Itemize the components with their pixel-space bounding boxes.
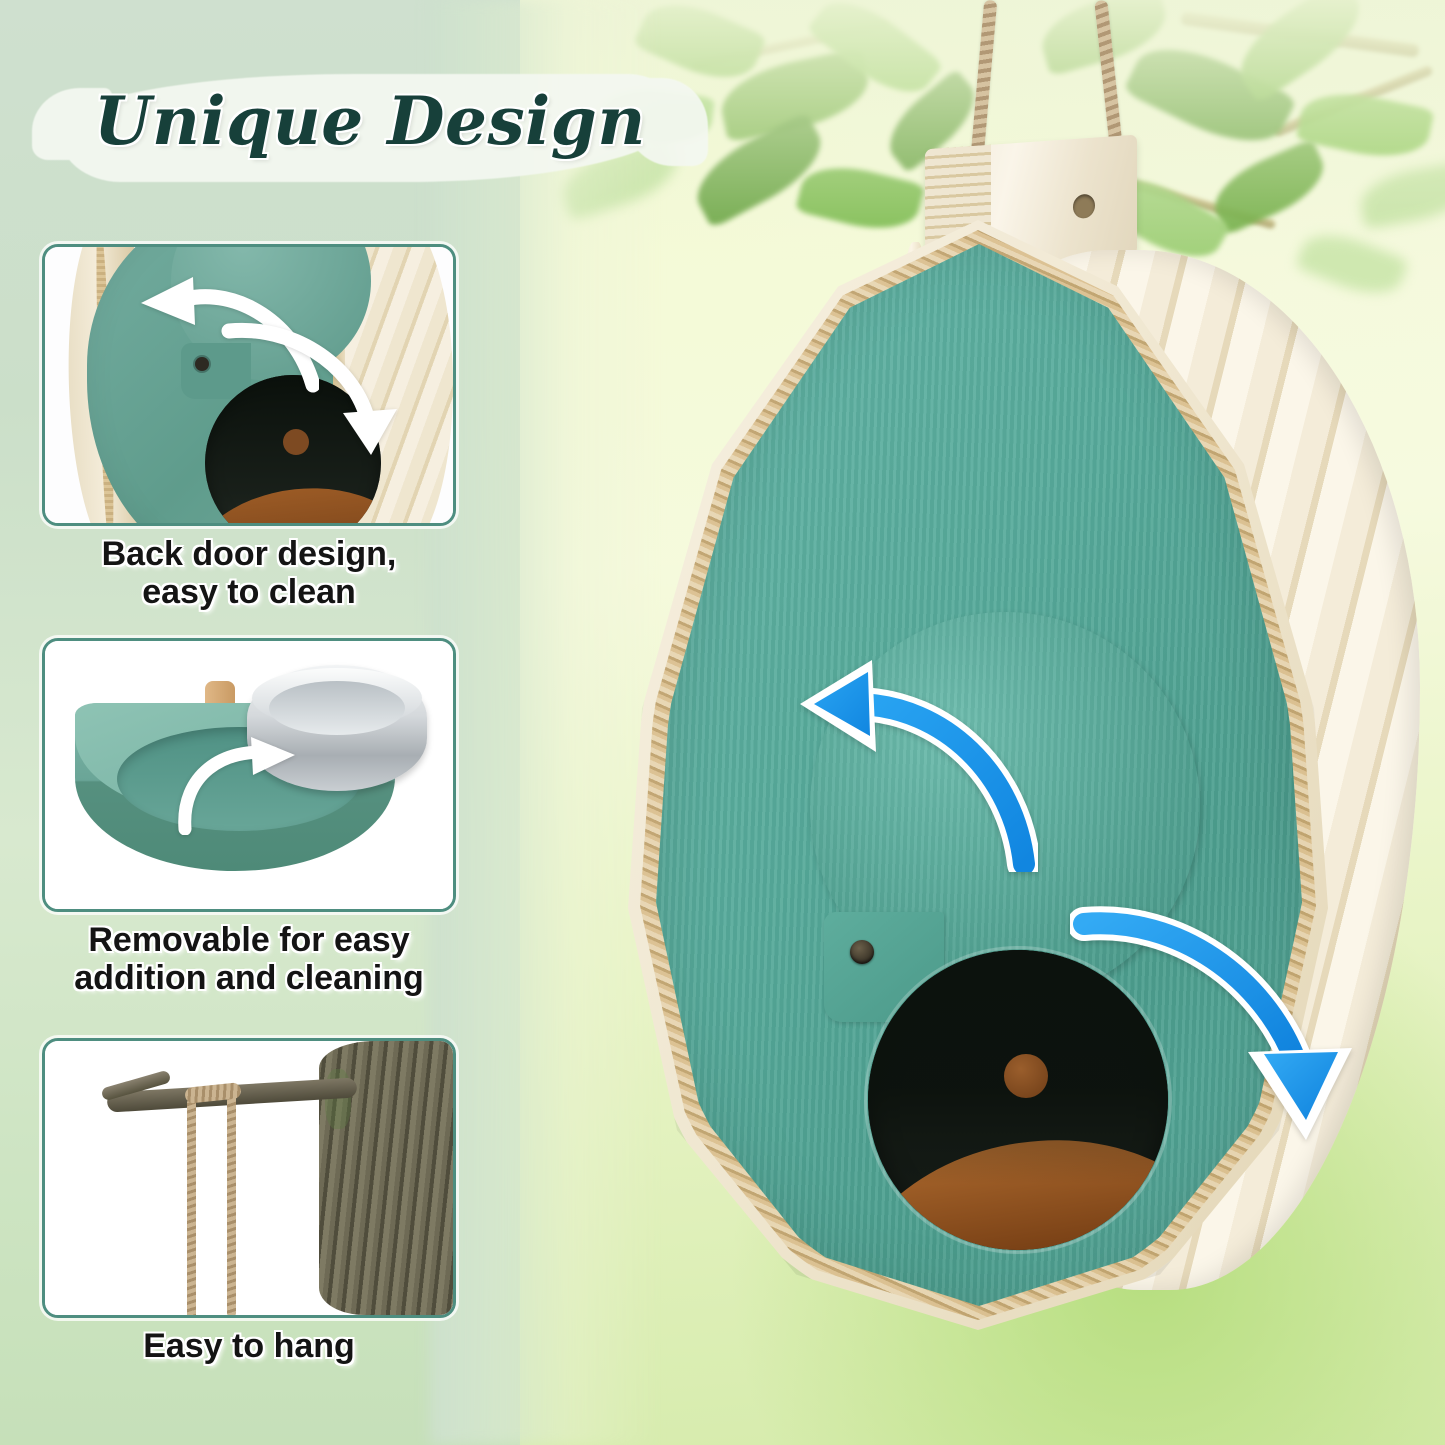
arrow-rotate-close-icon <box>1070 902 1400 1152</box>
feature-caption-removable-tray: Removable for easy addition and cleaning <box>42 921 456 997</box>
caption-line-1: Back door design, <box>42 535 456 573</box>
feature-thumbnail-removable-tray <box>42 638 456 912</box>
caption-line-1: Easy to hang <box>42 1327 456 1365</box>
feature-card-removable-tray: Removable for easy addition and cleaning <box>42 638 456 997</box>
page-title: Unique Design <box>94 82 646 160</box>
caption-line-2: addition and cleaning <box>42 959 456 997</box>
feature-thumbnail-easy-hang <box>42 1038 456 1318</box>
caption-line-2: easy to clean <box>42 573 456 611</box>
arrow-rotate-open-icon <box>708 642 1038 872</box>
rotation-arrow-close-icon <box>221 321 411 461</box>
birdhouse-body <box>600 212 1445 1352</box>
caption-line-1: Removable for easy <box>42 921 456 959</box>
hanging-rope-strand-right <box>227 1093 236 1317</box>
feature-caption-back-door: Back door design, easy to clean <box>42 535 456 611</box>
hero-product-image <box>600 120 1445 1350</box>
feature-card-easy-hang: Easy to hang <box>42 1038 456 1365</box>
feature-thumbnail-back-door <box>42 244 456 526</box>
page-title-block: Unique Design <box>48 52 688 200</box>
door-pivot-screw <box>850 940 874 964</box>
feature-card-back-door: Back door design, easy to clean <box>42 244 456 611</box>
lift-arrow-icon <box>161 737 301 835</box>
feature-caption-easy-hang: Easy to hang <box>42 1327 456 1365</box>
hanging-rope-strand-left <box>187 1099 196 1318</box>
